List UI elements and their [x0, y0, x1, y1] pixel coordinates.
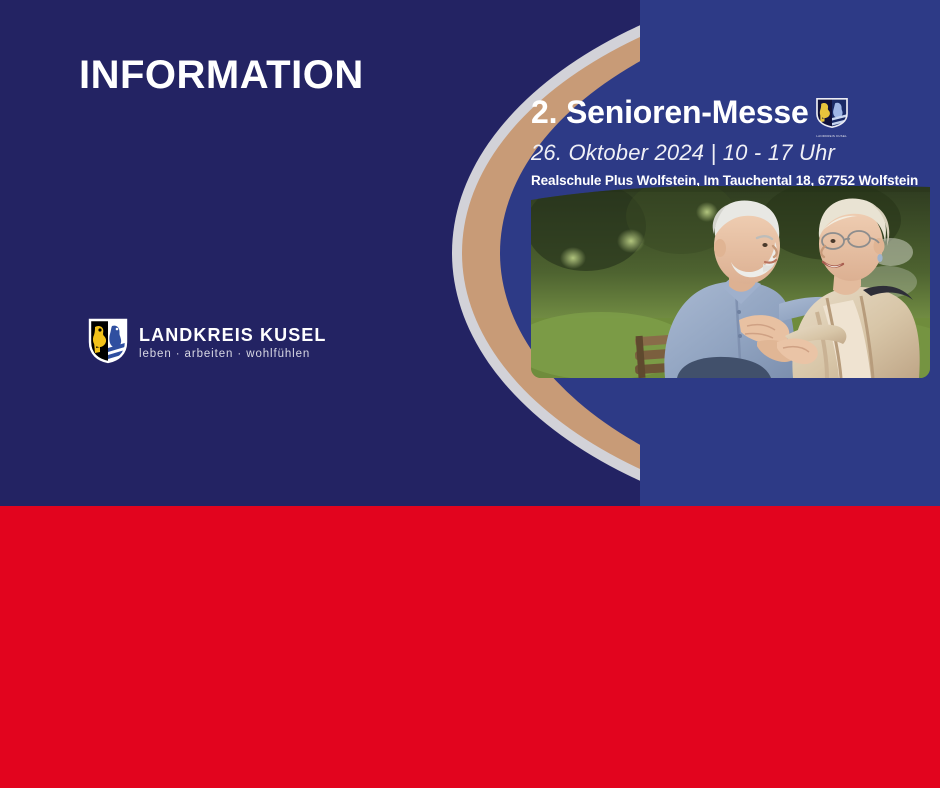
- page-title: INFORMATION: [79, 55, 364, 95]
- coat-of-arms-icon: [88, 318, 128, 369]
- logo-claim: leben · arbeiten · wohlfühlen: [139, 349, 327, 361]
- poster-canvas: INFORMATION: [0, 0, 940, 788]
- logo-text: LANDKREIS KUSEL leben · arbeiten · wohlf…: [139, 326, 327, 361]
- event-crest-caption: LANDKREIS KUSEL: [815, 134, 849, 138]
- event-date: 26. Oktober 2024 | 10 - 17 Uhr: [531, 140, 940, 166]
- top-blue-panel: INFORMATION: [0, 0, 940, 506]
- coat-of-arms-icon: [815, 115, 849, 132]
- event-crest: LANDKREIS KUSEL: [815, 98, 849, 138]
- event-info-block: 2. Senioren-Messe: [531, 96, 940, 188]
- bottom-red-band: [0, 506, 940, 788]
- logo-name: LANDKREIS KUSEL: [139, 326, 327, 344]
- event-title-row: 2. Senioren-Messe: [531, 96, 940, 138]
- photo-illustration: [531, 186, 930, 378]
- landkreis-kusel-logo: LANDKREIS KUSEL leben · arbeiten · wohlf…: [88, 318, 327, 369]
- senior-couple-photo: [531, 186, 930, 378]
- event-title: 2. Senioren-Messe: [531, 96, 809, 130]
